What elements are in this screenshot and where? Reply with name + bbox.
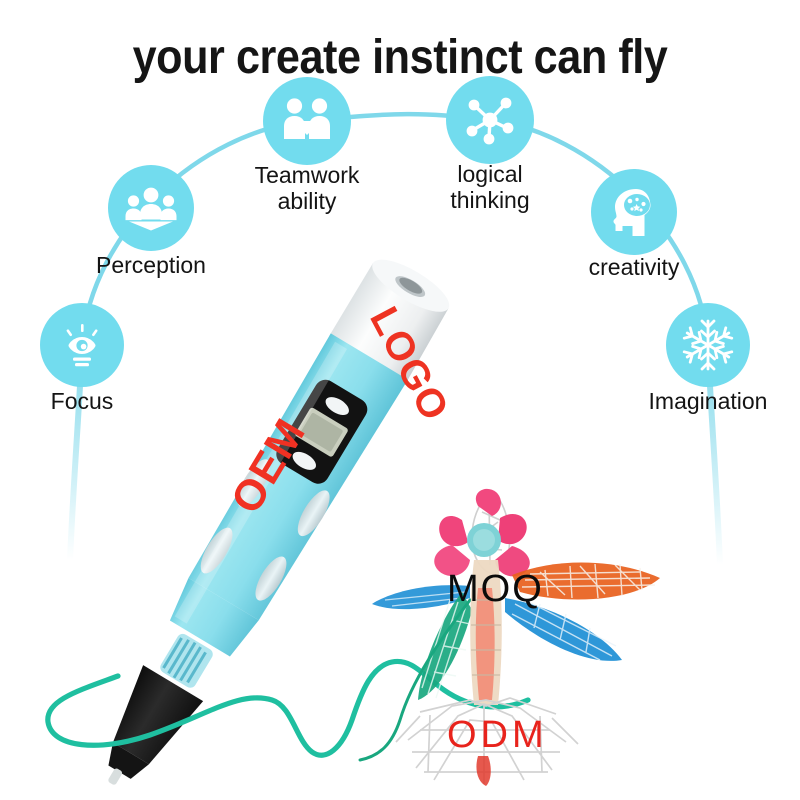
product-illustration — [0, 0, 800, 800]
pen-main-body — [161, 333, 408, 661]
overlay-text-moq: MOQ — [447, 568, 544, 611]
overlay-text-odm: ODM — [447, 714, 548, 757]
product-marketing-image: your create instinct can fly — [0, 0, 800, 800]
artwork-red-accent — [476, 756, 490, 786]
